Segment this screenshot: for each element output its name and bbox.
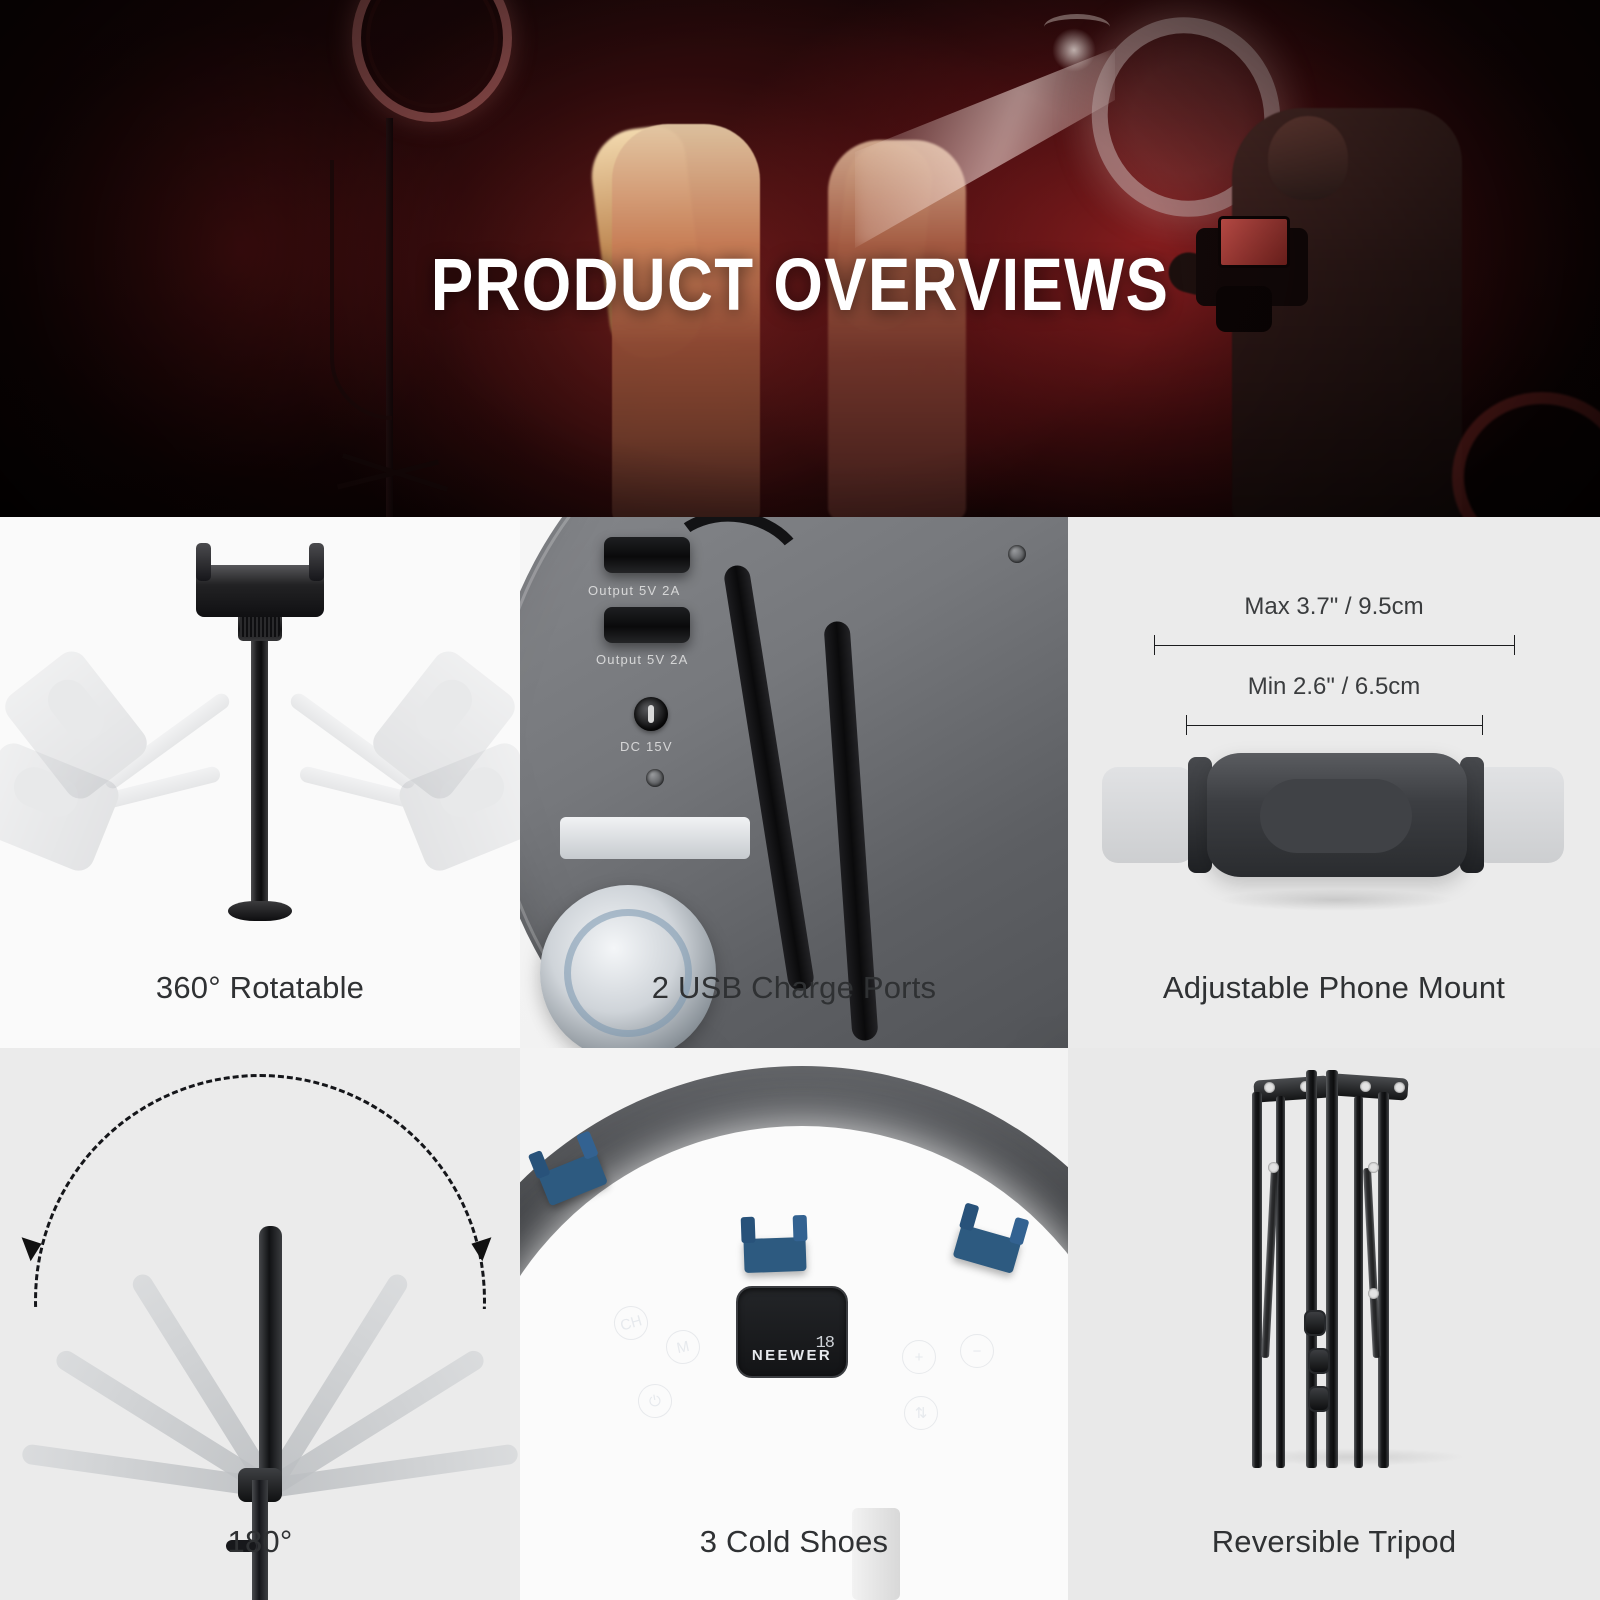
feature-caption-tripod: Reversible Tripod [1068,1524,1600,1560]
usb-port-2 [604,607,690,643]
tripod-twist-lock[interactable] [1308,1386,1330,1412]
tripod-hole [1394,1082,1405,1093]
mount-ghost-left [1102,767,1194,863]
brand-logo: NEEWER [738,1347,846,1364]
feature-card-cold-shoes: CH M ⏻ + − ⇅ 18 NEEWER 3 Cold Shoes [520,1048,1068,1600]
housing-screw [1008,545,1026,563]
feature-card-tripod: Reversible Tripod [1068,1048,1600,1600]
phone-mount-pad [1260,779,1412,853]
feature-caption-tilt: 180° [0,1524,520,1560]
max-dimension-tick-left [1154,635,1155,655]
page-title: PRODUCT OVERVIEWS [112,248,1488,322]
housing-screw [646,769,664,787]
toggle-button[interactable]: ⇅ [904,1396,938,1430]
max-dimension-label: Max 3.7" / 9.5cm [1068,593,1600,621]
feature-card-phone-mount: Max 3.7" / 9.5cm Min 2.6" / 6.5cm Adjust… [1068,517,1600,1048]
min-dimension-group: Min 2.6" / 6.5cm [1068,673,1600,701]
usb-port-2-label: Output 5V 2A [596,652,688,667]
phone-clamp [196,565,324,617]
usb-ports-photo: Output 5V 2A Output 5V 2A DC 15V [520,517,1068,1048]
feature-caption-usb-ports: 2 USB Charge Ports [520,970,1068,1006]
tripod-rivet [1268,1162,1279,1173]
tripod-shadow [1246,1448,1466,1466]
clamp-jaw-left [196,543,211,581]
dc-input-jack [634,697,668,731]
cold-shoe-2 [743,1237,806,1273]
feature-caption-cold-shoes: 3 Cold Shoes [520,1524,1068,1560]
control-display: 18 NEEWER [736,1286,848,1378]
min-dimension-line [1186,725,1482,726]
feature-grid: 360° Rotatable Output 5V 2A Output 5V 2A… [0,517,1600,1600]
min-dimension-label: Min 2.6" / 6.5cm [1068,673,1600,701]
rotatable-illustration [0,537,520,937]
tripod-hole [1264,1082,1275,1093]
product-overview-page: PRODUCT OVERVIEWS [0,0,1600,1600]
max-dimension-tick-right [1514,635,1515,655]
min-dimension-tick-left [1186,715,1187,735]
tripod-leg [1276,1096,1285,1468]
cold-shoes-photo: CH M ⏻ + − ⇅ 18 NEEWER [520,1048,1068,1600]
feature-card-usb-ports: Output 5V 2A Output 5V 2A DC 15V 2 USB C… [520,517,1068,1048]
feature-caption-phone-mount: Adjustable Phone Mount [1068,970,1600,1006]
max-dimension-group: Max 3.7" / 9.5cm [1068,593,1600,621]
tripod-leg [1354,1096,1363,1468]
tripod-rivet [1368,1288,1379,1299]
tripod-rivet [1368,1162,1379,1173]
mount-shadow [1218,889,1454,911]
feature-caption-rotatable: 360° Rotatable [0,970,520,1006]
min-dimension-tick-right [1482,715,1483,735]
tripod-leg [1252,1092,1262,1468]
max-dimension-line [1154,645,1514,646]
increase-button[interactable]: + [902,1340,936,1374]
ring-light-edge-on [259,1226,282,1488]
mount-bracket [560,817,750,859]
tripod-leg [1378,1092,1389,1468]
clamp-jaw-right [309,543,324,581]
tripod-twist-lock[interactable] [1308,1348,1330,1374]
tripod-hole [1360,1081,1371,1092]
tripod-illustration [1068,1048,1600,1468]
feature-card-rotatable: 360° Rotatable [0,517,520,1048]
mount-ghost-right [1472,767,1564,863]
gooseneck-pole [251,623,268,909]
feature-card-tilt: 180° [0,1048,520,1600]
mount-base [228,901,292,921]
tripod-twist-lock[interactable] [1304,1310,1326,1336]
dc-input-label: DC 15V [620,739,673,754]
decrease-button[interactable]: − [960,1334,994,1368]
hero-banner: PRODUCT OVERVIEWS [0,0,1600,517]
